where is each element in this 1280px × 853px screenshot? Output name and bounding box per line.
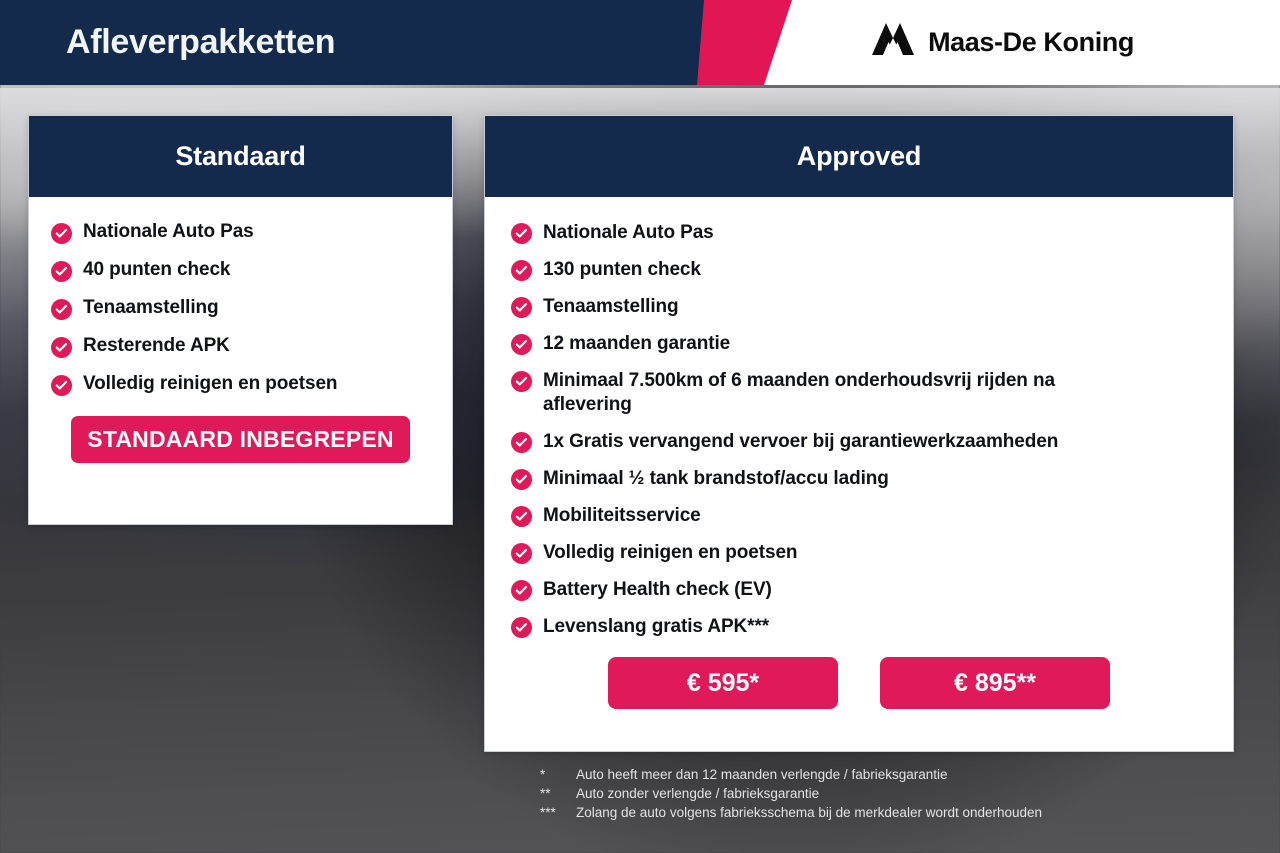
footnote-block: * Auto heeft meer dan 12 maanden verleng… bbox=[540, 765, 1042, 822]
page-title: Afleverpakketten bbox=[66, 0, 335, 85]
check-circle-icon bbox=[51, 261, 72, 282]
check-circle-icon bbox=[51, 223, 72, 244]
footnote-marker: *** bbox=[540, 803, 576, 822]
card-body-standaard: Nationale Auto Pas 40 punten check Tenaa… bbox=[29, 197, 452, 463]
check-circle-icon bbox=[511, 432, 532, 453]
feature-label: Nationale Auto Pas bbox=[543, 221, 714, 245]
list-item: Tenaamstelling bbox=[511, 295, 1207, 319]
feature-label: Minimaal 7.500km of 6 maanden onderhouds… bbox=[543, 369, 1143, 417]
check-circle-icon bbox=[511, 469, 532, 490]
footnote-text: Zolang de auto volgens fabrieksschema bi… bbox=[576, 803, 1042, 822]
list-item: Resterende APK bbox=[51, 335, 430, 358]
footnote-2: ** Auto zonder verlengde / fabrieksgaran… bbox=[540, 784, 1042, 803]
feature-label: Nationale Auto Pas bbox=[83, 221, 254, 243]
feature-label: Tenaamstelling bbox=[543, 295, 679, 319]
list-item: Nationale Auto Pas bbox=[511, 221, 1207, 245]
price-button-895[interactable]: € 895** bbox=[880, 657, 1110, 709]
card-header-approved: Approved bbox=[485, 116, 1233, 197]
footnote-marker: * bbox=[540, 765, 576, 784]
check-circle-icon bbox=[511, 260, 532, 281]
list-item: Volledig reinigen en poetsen bbox=[51, 373, 430, 396]
list-item: Levenslang gratis APK*** bbox=[511, 615, 1207, 639]
list-item: Tenaamstelling bbox=[51, 297, 430, 320]
feature-label: 130 punten check bbox=[543, 258, 701, 282]
feature-label: Mobiliteitsservice bbox=[543, 504, 701, 528]
footnote-marker: ** bbox=[540, 784, 576, 803]
feature-label: 12 maanden garantie bbox=[543, 332, 730, 356]
check-circle-icon bbox=[511, 371, 532, 392]
list-item: 130 punten check bbox=[511, 258, 1207, 282]
footnote-1: * Auto heeft meer dan 12 maanden verleng… bbox=[540, 765, 1042, 784]
feature-label: Volledig reinigen en poetsen bbox=[543, 541, 797, 565]
check-circle-icon bbox=[511, 297, 532, 318]
check-circle-icon bbox=[511, 543, 532, 564]
package-card-standaard: Standaard Nationale Auto Pas 40 punten c… bbox=[28, 115, 453, 525]
card-body-approved: Nationale Auto Pas 130 punten check Tena… bbox=[485, 197, 1233, 709]
check-circle-icon bbox=[511, 580, 532, 601]
feature-label: Volledig reinigen en poetsen bbox=[83, 373, 337, 395]
feature-label: Minimaal ½ tank brandstof/accu lading bbox=[543, 467, 889, 491]
list-item: Battery Health check (EV) bbox=[511, 578, 1207, 602]
footnote-text: Auto heeft meer dan 12 maanden verlengde… bbox=[576, 765, 948, 784]
list-item: 12 maanden garantie bbox=[511, 332, 1207, 356]
feature-label: Resterende APK bbox=[83, 335, 230, 357]
standaard-inbegrepen-button[interactable]: STANDAARD INBEGREPEN bbox=[71, 416, 410, 463]
brand-name: Maas-De Koning bbox=[928, 27, 1134, 58]
card-header-standaard: Standaard bbox=[29, 116, 452, 197]
card-title-approved: Approved bbox=[797, 141, 921, 172]
list-item: Minimaal 7.500km of 6 maanden onderhouds… bbox=[511, 369, 1207, 417]
card-title-standaard: Standaard bbox=[175, 141, 305, 172]
feature-label: Battery Health check (EV) bbox=[543, 578, 772, 602]
footnote-text: Auto zonder verlengde / fabrieksgarantie bbox=[576, 784, 819, 803]
price-button-row: € 595* € 895** bbox=[511, 657, 1207, 709]
check-circle-icon bbox=[511, 617, 532, 638]
promo-page: Afleverpakketten Maas-De Koning Standaar… bbox=[0, 0, 1280, 853]
list-item: Minimaal ½ tank brandstof/accu lading bbox=[511, 467, 1207, 491]
check-circle-icon bbox=[511, 223, 532, 244]
page-header: Afleverpakketten Maas-De Koning bbox=[0, 0, 1280, 85]
list-item: Mobiliteitsservice bbox=[511, 504, 1207, 528]
feature-label: 40 punten check bbox=[83, 259, 230, 281]
price-button-595[interactable]: € 595* bbox=[608, 657, 838, 709]
check-circle-icon bbox=[51, 375, 72, 396]
maas-de-koning-logo-icon bbox=[870, 21, 916, 64]
feature-label: 1x Gratis vervangend vervoer bij garanti… bbox=[543, 430, 1058, 454]
list-item: 40 punten check bbox=[51, 259, 430, 282]
package-card-approved: Approved Nationale Auto Pas 130 punten c… bbox=[484, 115, 1234, 752]
check-circle-icon bbox=[51, 337, 72, 358]
brand-logo: Maas-De Koning bbox=[870, 0, 1134, 85]
feature-list-approved: Nationale Auto Pas 130 punten check Tena… bbox=[511, 221, 1207, 639]
feature-label: Levenslang gratis APK*** bbox=[543, 615, 769, 639]
check-circle-icon bbox=[511, 506, 532, 527]
footnote-3: *** Zolang de auto volgens fabrieksschem… bbox=[540, 803, 1042, 822]
list-item: Nationale Auto Pas bbox=[51, 221, 430, 244]
feature-label: Tenaamstelling bbox=[83, 297, 219, 319]
list-item: Volledig reinigen en poetsen bbox=[511, 541, 1207, 565]
list-item: 1x Gratis vervangend vervoer bij garanti… bbox=[511, 430, 1207, 454]
check-circle-icon bbox=[51, 299, 72, 320]
check-circle-icon bbox=[511, 334, 532, 355]
feature-list-standaard: Nationale Auto Pas 40 punten check Tenaa… bbox=[51, 221, 430, 396]
